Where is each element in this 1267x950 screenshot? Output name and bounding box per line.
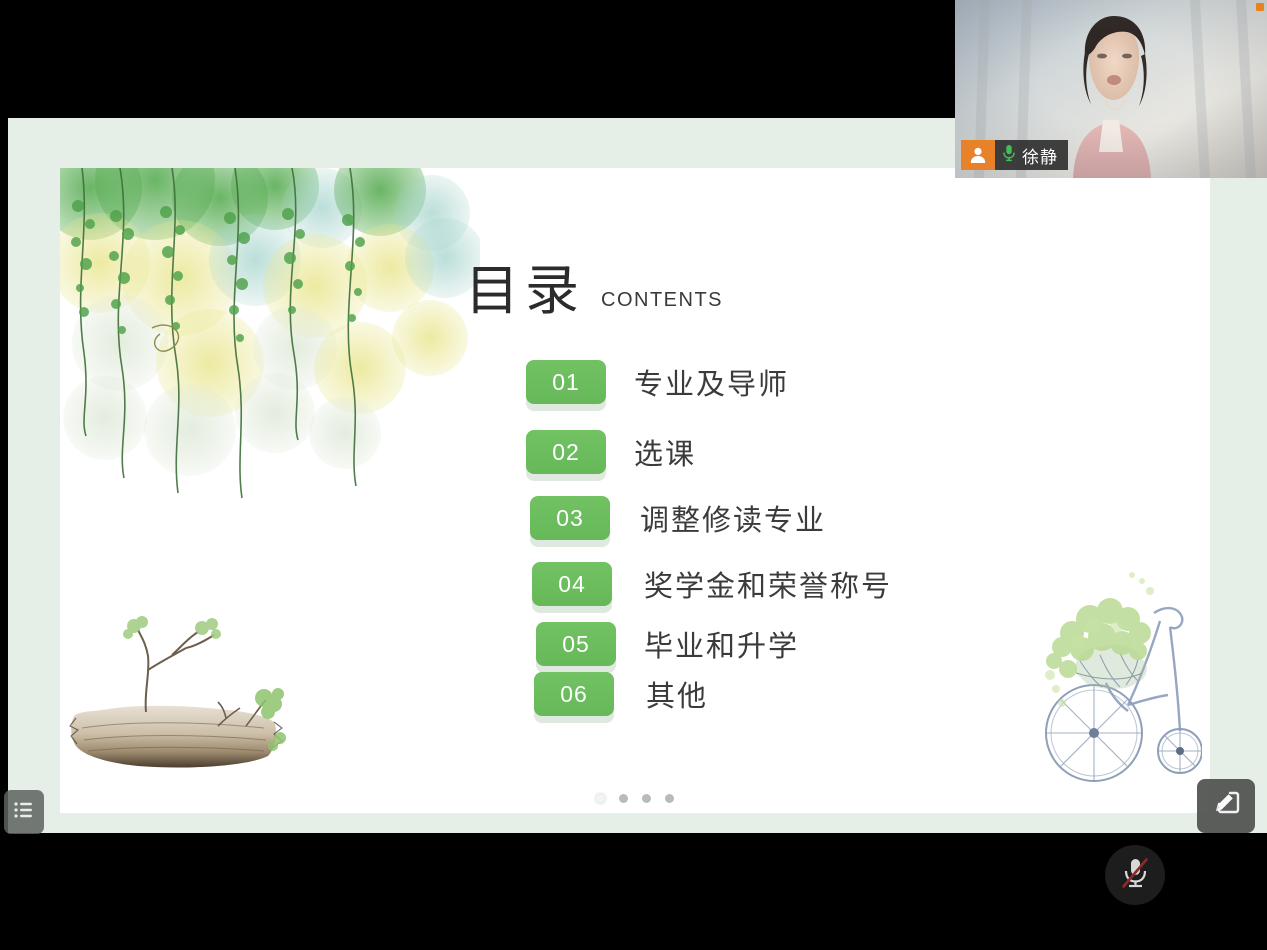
screen: 目录 CONTENTS 01 专业及导师 02 选课 03 调整修读专业 04 … <box>0 0 1267 950</box>
participant-video-tile[interactable]: 徐静 <box>955 0 1267 178</box>
contents-item-label: 专业及导师 <box>634 361 789 403</box>
list-item[interactable]: 01 专业及导师 <box>526 360 1166 404</box>
slide-title-block: 目录 CONTENTS <box>465 263 723 319</box>
recording-indicator-dot <box>1256 3 1264 11</box>
slide-pagination[interactable] <box>60 794 1210 803</box>
slide-title-en: CONTENTS <box>601 289 723 319</box>
contents-item-label: 其他 <box>646 673 708 715</box>
watercolor-foliage-decoration <box>60 168 480 518</box>
contents-item-label: 选课 <box>634 431 696 473</box>
microphone-muted-icon <box>1120 856 1150 895</box>
contents-number-badge: 04 <box>532 562 612 606</box>
participant-name: 徐静 <box>1022 143 1058 168</box>
microphone-icon <box>1002 144 1016 167</box>
page-dot-3[interactable] <box>642 794 651 803</box>
contents-number-badge: 03 <box>530 496 610 540</box>
list-item[interactable]: 02 选课 <box>526 430 1166 474</box>
person-icon <box>961 140 995 170</box>
slide-title-cn: 目录 <box>465 263 585 319</box>
list-icon <box>13 800 35 825</box>
pencil-square-icon <box>1211 789 1241 824</box>
list-item[interactable]: 03 调整修读专业 <box>530 496 1166 540</box>
annotate-button[interactable] <box>1197 779 1255 833</box>
driftwood-decoration <box>68 608 298 793</box>
list-view-button[interactable] <box>4 790 44 834</box>
page-dot-1[interactable] <box>596 794 605 803</box>
mute-button[interactable] <box>1105 845 1165 905</box>
bicycle-decoration <box>1032 555 1202 795</box>
page-dot-2[interactable] <box>619 794 628 803</box>
participant-name-bar: 徐静 <box>961 140 1068 170</box>
contents-number-badge: 06 <box>534 672 614 716</box>
contents-number-badge: 05 <box>536 622 616 666</box>
contents-number-badge: 02 <box>526 430 606 474</box>
page-dot-4[interactable] <box>665 794 674 803</box>
slide-canvas[interactable]: 目录 CONTENTS 01 专业及导师 02 选课 03 调整修读专业 04 … <box>60 168 1210 813</box>
participant-name-chip: 徐静 <box>995 140 1068 170</box>
contents-item-label: 调整修读专业 <box>640 497 826 539</box>
contents-item-label: 奖学金和荣誉称号 <box>644 563 892 605</box>
contents-number-badge: 01 <box>526 360 606 404</box>
contents-item-label: 毕业和升学 <box>644 623 799 665</box>
